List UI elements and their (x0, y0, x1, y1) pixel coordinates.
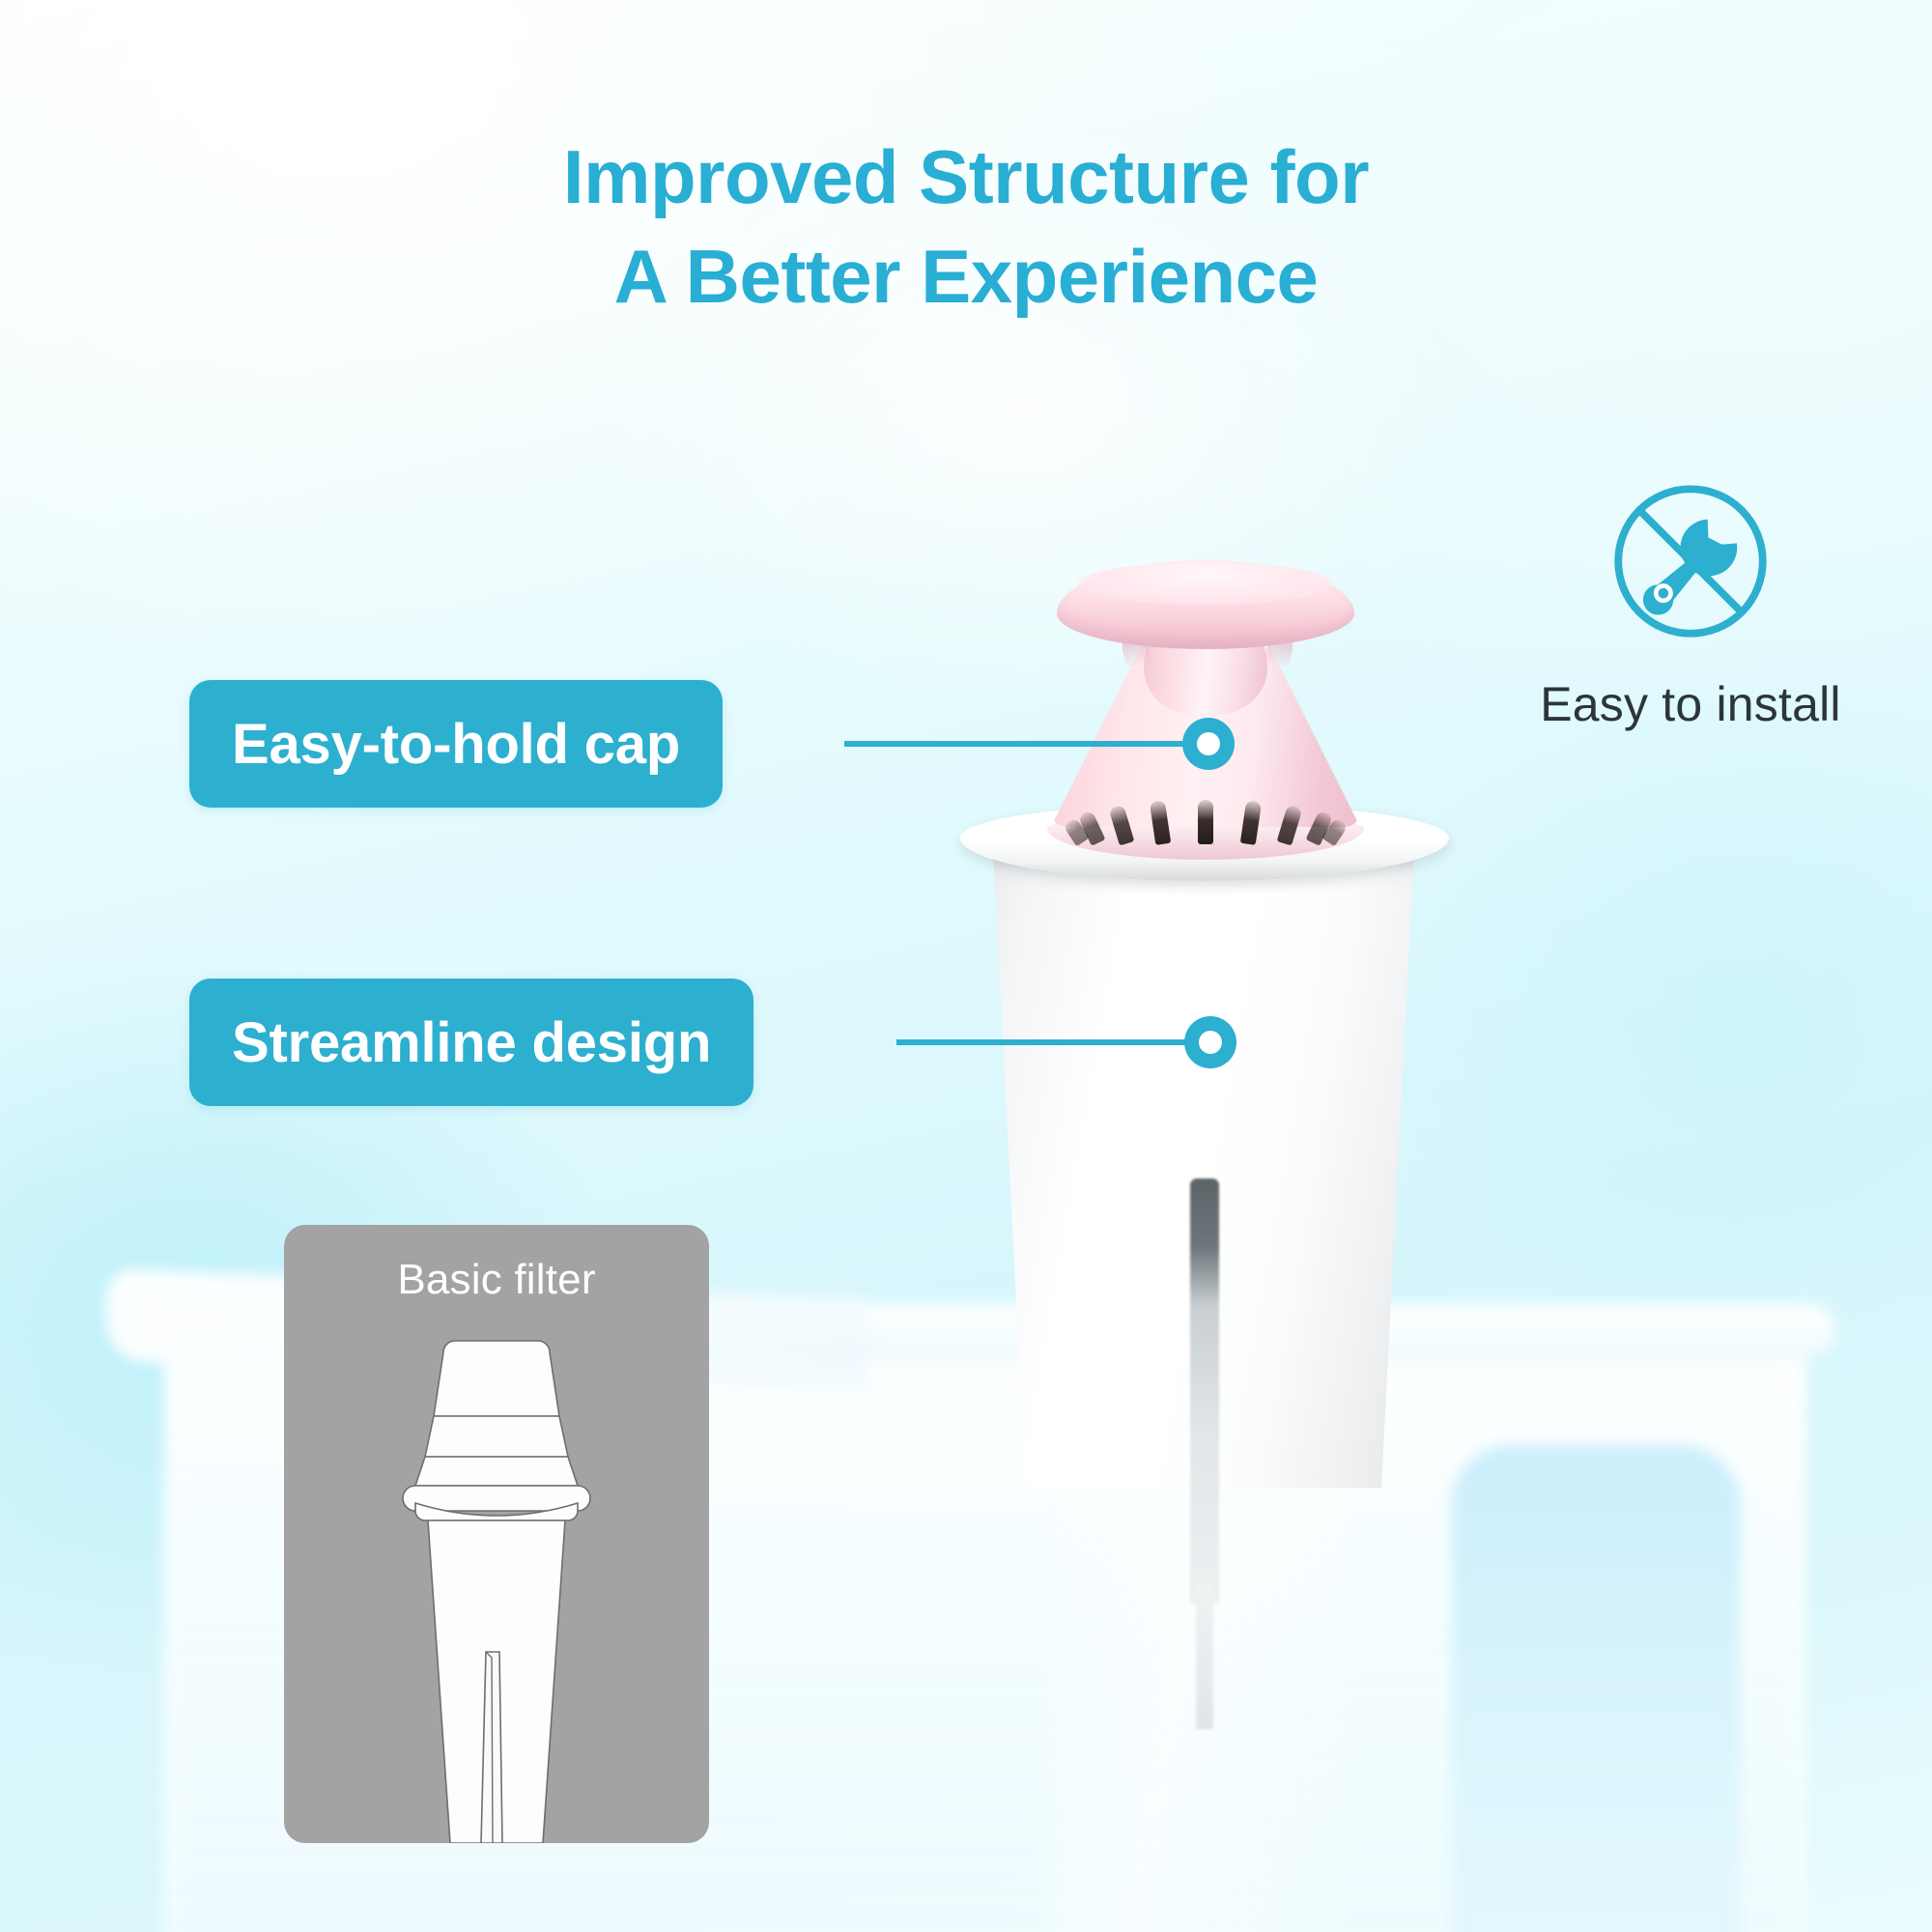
basic-filter-comparison-card: Basic filter (284, 1225, 709, 1843)
no-tools-wrench-icon (1605, 475, 1776, 647)
cap-vent-ring (1051, 788, 1360, 848)
cap-vent-slot (1150, 801, 1171, 845)
cap-vent-slot (1277, 804, 1303, 845)
basic-filter-line-drawing (332, 1333, 661, 1843)
page-title-line-1: Improved Structure for (0, 128, 1932, 227)
basic-filter-card-title: Basic filter (284, 1256, 709, 1304)
filter-body-slot (1190, 1179, 1219, 1604)
filter-body-slot-lower (1196, 1584, 1213, 1729)
callout-leader-line (896, 1039, 1196, 1045)
callout-node-marker (1184, 1016, 1236, 1068)
callout-badge-easy-to-hold-cap[interactable]: Easy-to-hold cap (189, 680, 723, 808)
callout-badge-streamline-design[interactable]: Streamline design (189, 979, 753, 1106)
cap-vent-slot (1198, 800, 1213, 844)
infographic-canvas: Improved Structure for A Better Experien… (0, 0, 1932, 1932)
easy-to-install-label: Easy to install (1459, 676, 1922, 732)
filter-pink-cap (1051, 560, 1360, 850)
callout-node-marker (1182, 718, 1235, 770)
cap-vent-slot (1108, 804, 1134, 845)
page-title-line-2: A Better Experience (0, 227, 1932, 327)
easy-to-install-feature: Easy to install (1459, 475, 1922, 732)
callout-leader-line (844, 741, 1192, 747)
pitcher-handle-opening (1451, 1445, 1741, 1932)
page-title: Improved Structure for A Better Experien… (0, 128, 1932, 327)
cap-grip-highlight (1078, 562, 1333, 605)
cap-vent-slot (1239, 801, 1261, 845)
